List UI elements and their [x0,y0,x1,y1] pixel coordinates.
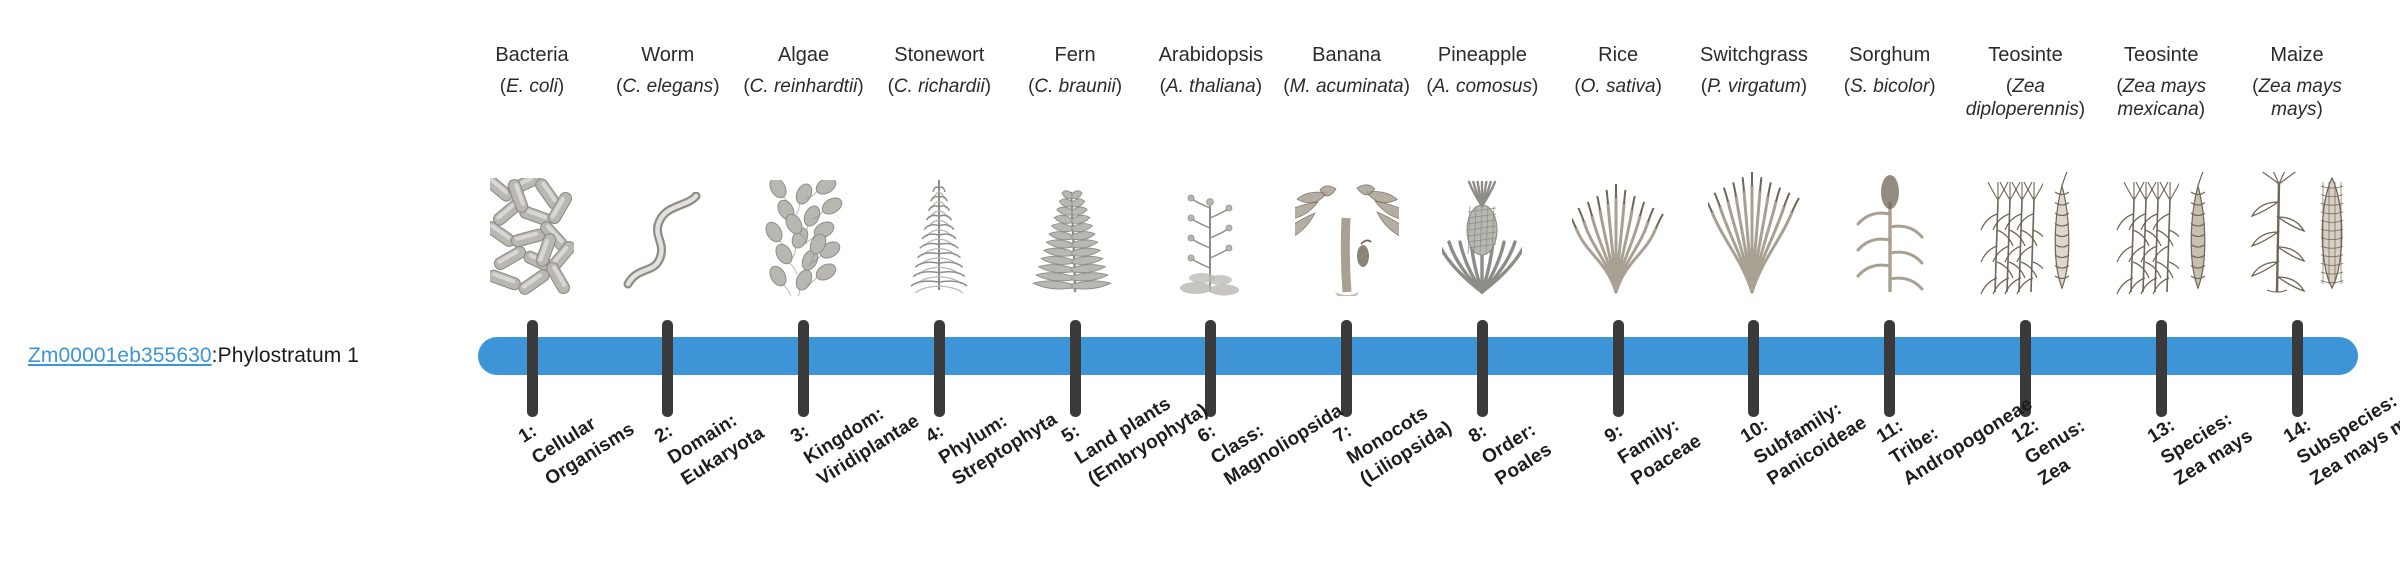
species-scientific-name-text: O. sativa [1581,76,1656,97]
species-scientific-name: (S. bicolor) [1822,75,1958,98]
species-common-name: Rice [1550,43,1686,67]
species-scientific-name-text: M. acuminata [1290,76,1404,97]
species-scientific-name: (C. elegans) [600,75,736,98]
species-scientific-name-text: P. virgatum [1707,76,1801,97]
species-scientific-name: (C. richardii) [871,75,1007,98]
nematode-worm-icon [600,168,736,296]
species-scientific-name-text: A. comosus [1433,76,1532,97]
stonewort-alga-icon [871,168,1007,296]
phylostratum-value: Phylostratum 1 [218,344,359,368]
banana-plant-icon [1279,168,1415,296]
species-common-name: Sorghum [1822,43,1958,67]
species-common-name: Arabidopsis [1143,43,1279,67]
teosinte-plant-and-ear-icon [1957,168,2093,296]
species-scientific-name-text: Zea mays mays [2258,76,2341,120]
maize-plant-and-ear-icon [2229,168,2365,296]
species-scientific-name-text: C. reinhardtii [750,76,858,97]
species-scientific-name: (A. thaliana) [1143,75,1279,98]
species-scientific-name: (E. coli) [464,75,600,98]
pineapple-plant-icon [1414,168,1550,296]
species-scientific-name: (C. reinhardtii) [736,75,872,98]
teosinte-mexicana-plant-and-ear-icon [2093,168,2229,296]
species-scientific-name-text: S. bicolor [1850,76,1929,97]
species-common-name: Teosinte [1957,43,2093,67]
species-scientific-name-text: C. richardii [894,76,985,97]
species-scientific-name-text: E. coli [506,76,558,97]
timeline-tick[interactable] [527,320,538,417]
species-scientific-name: (A. comosus) [1414,75,1550,98]
green-algae-cells-icon [736,168,872,296]
species-common-name: Teosinte [2093,43,2229,67]
species-common-name: Algae [736,43,872,67]
species-common-name: Pineapple [1414,43,1550,67]
arabidopsis-rosette-icon [1143,168,1279,296]
species-common-name: Maize [2229,43,2365,67]
species-scientific-name-text: C. elegans [622,76,713,97]
species-scientific-name-text: A. thaliana [1166,76,1256,97]
species-scientific-name: (M. acuminata) [1279,75,1415,98]
species-common-name: Fern [1007,43,1143,67]
rice-plant-icon [1550,168,1686,296]
switchgrass-plant-icon [1686,168,1822,296]
species-scientific-name: (C. braunii) [1007,75,1143,98]
species-common-name: Banana [1279,43,1415,67]
species-scientific-name: (Zea mays mexicana) [2093,75,2229,121]
gene-id-link[interactable]: Zm00001eb355630 [28,344,212,368]
species-scientific-name-text: C. braunii [1034,76,1115,97]
bacteria-rods-icon [464,168,600,296]
species-common-name: Stonewort [871,43,1007,67]
species-scientific-name: (Zea mays mays) [2229,75,2365,121]
species-scientific-name: (O. sativa) [1550,75,1686,98]
species-common-name: Switchgrass [1686,43,1822,67]
gene-phylostratum-label: Zm00001eb355630: Phylostratum 1 [28,337,359,375]
species-scientific-name-text: Zea mays mexicana [2117,76,2206,120]
species-scientific-name: (P. virgatum) [1686,75,1822,98]
phylostratigraphy-timeline: Zm00001eb355630: Phylostratum 1 Bacteria… [0,0,2400,580]
species-common-name: Bacteria [464,43,600,67]
species-scientific-name-text: Zea diploperennis [1966,76,2079,120]
species-scientific-name: (Zea diploperennis) [1957,75,2093,121]
fern-frond-icon [1007,168,1143,296]
sorghum-plant-icon [1822,168,1958,296]
species-common-name: Worm [600,43,736,67]
